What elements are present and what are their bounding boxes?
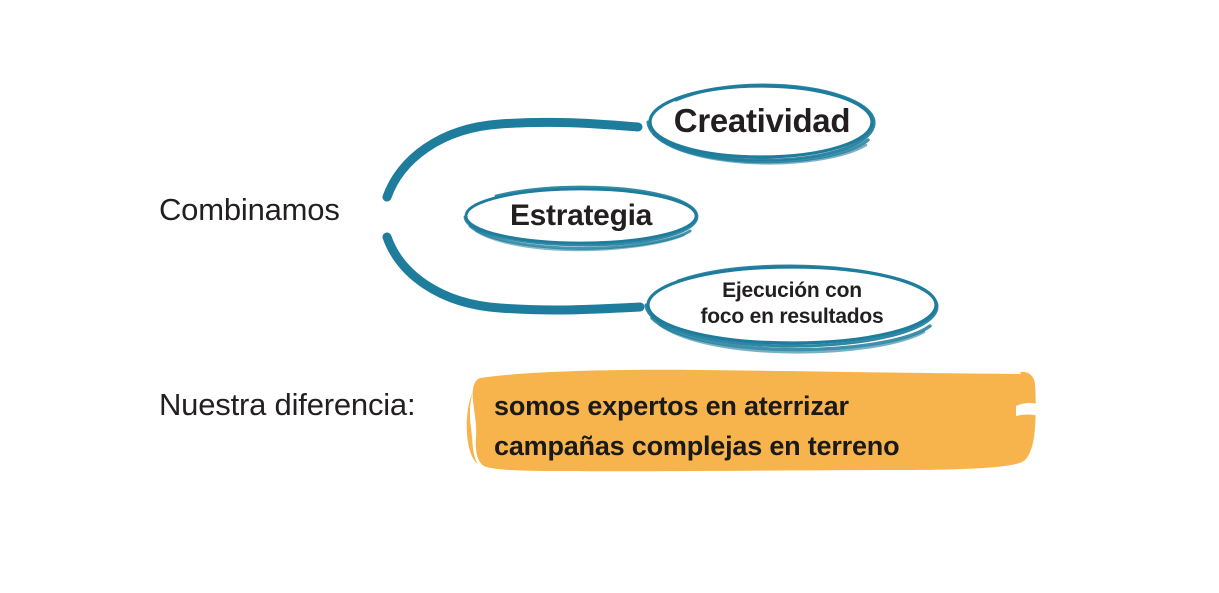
bracket-arc-top <box>387 122 638 197</box>
footer-lead-label: Nuestra diferencia: <box>159 388 415 421</box>
ellipse-creatividad <box>648 85 874 163</box>
ellipse-ejecucion <box>646 266 937 352</box>
root-label-combinamos: Combinamos <box>159 193 340 226</box>
footer-highlight-text: somos expertos en aterrizar campañas com… <box>494 387 1024 466</box>
slide-canvas: Combinamos Creatividad Estrategia Ejecuc… <box>0 0 1219 593</box>
ellipse-estrategia <box>465 187 697 250</box>
bracket-connector <box>387 122 640 310</box>
diagram-graphics <box>0 0 1219 593</box>
